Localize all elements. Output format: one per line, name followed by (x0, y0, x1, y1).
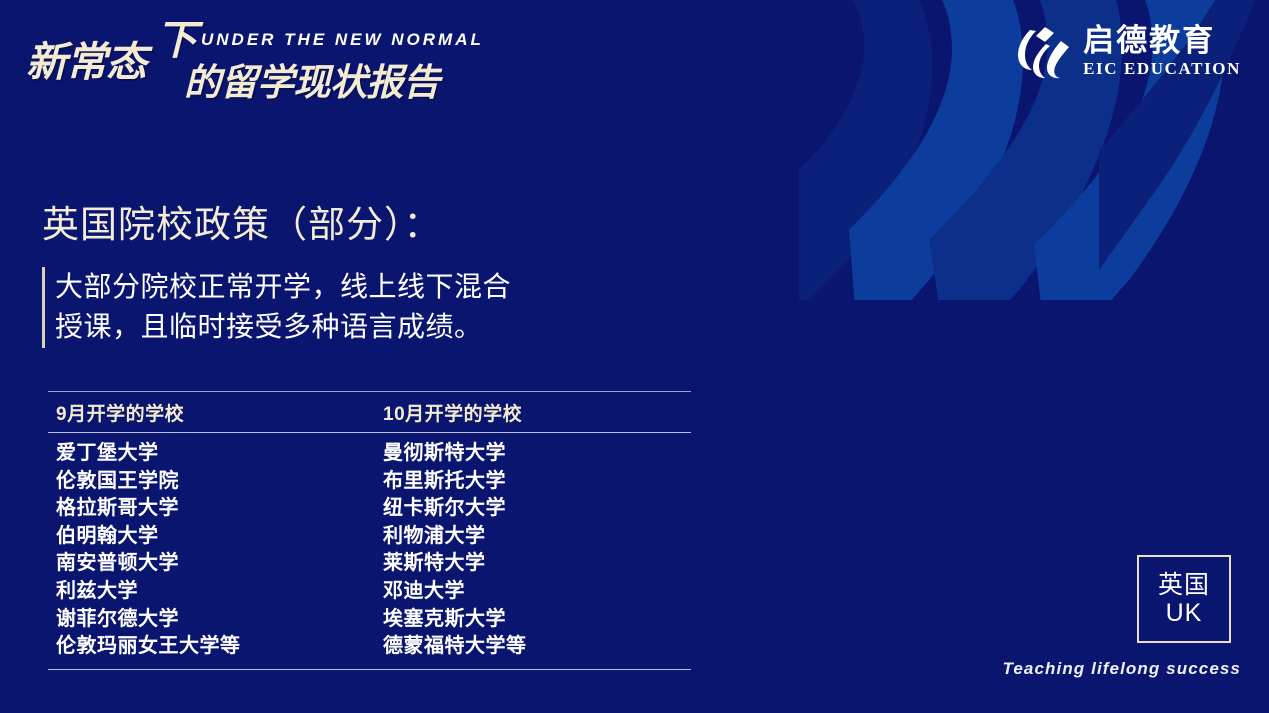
table-cell-sep-8: 伦敦玛丽女王大学等 (56, 633, 383, 661)
table-cell-oct-6: 邓迪大学 (383, 578, 691, 606)
table-header-row: 9月开学的学校 10月开学的学校 (48, 392, 691, 432)
table-row: 南安普顿大学 莱斯特大学 (56, 550, 691, 578)
table-row: 伯明翰大学 利物浦大学 (56, 523, 691, 551)
accent-bar (42, 267, 45, 348)
table-cell-sep-6: 利兹大学 (56, 578, 383, 606)
table-cell-sep-7: 谢菲尔德大学 (56, 606, 383, 634)
report-title-cn-line1: 新常态 (26, 42, 146, 83)
table-row: 爱丁堡大学 曼彻斯特大学 (56, 440, 691, 468)
country-badge: 英国 UK (1137, 555, 1231, 643)
table-cell-sep-1: 爱丁堡大学 (56, 440, 383, 468)
slide-root: 新常态 下 UNDER THE NEW NORMAL 的留学现状报告 启德教育 … (0, 0, 1269, 713)
table-cell-sep-5: 南安普顿大学 (56, 550, 383, 578)
table-header-cell-1: 9月开学的学校 (56, 399, 383, 426)
table-cell-oct-5: 莱斯特大学 (383, 550, 691, 578)
brand-text: 启德教育 EIC EDUCATION (1083, 25, 1241, 80)
table-row: 谢菲尔德大学 埃塞克斯大学 (56, 606, 691, 634)
brand-tagline: Teaching lifelong success (1003, 659, 1242, 679)
table-row: 格拉斯哥大学 纽卡斯尔大学 (56, 495, 691, 523)
page-title: 英国院校政策（部分）： (42, 194, 442, 248)
table-cell-sep-2: 伦敦国王学院 (56, 468, 383, 496)
lead-paragraph: 大部分院校正常开学，线上线下混合 授课，且临时接受多种语言成绩。 (42, 267, 511, 348)
brand-name-cn: 启德教育 (1083, 25, 1215, 58)
report-title-en: UNDER THE NEW NORMAL (201, 30, 484, 50)
lead-paragraph-text: 大部分院校正常开学，线上线下混合 授课，且临时接受多种语言成绩。 (55, 267, 511, 348)
table-cell-oct-1: 曼彻斯特大学 (383, 440, 691, 468)
report-title-cn-line2: 的留学现状报告 (184, 64, 440, 101)
table-body: 爱丁堡大学 曼彻斯特大学 伦敦国王学院 布里斯托大学 格拉斯哥大学 纽卡斯尔大学… (48, 433, 691, 669)
report-title-cn-raised: 下 (156, 20, 197, 61)
eic-logo-mark-icon (1016, 24, 1070, 80)
table-cell-oct-4: 利物浦大学 (383, 523, 691, 551)
table-rule-bottom (48, 669, 691, 670)
table-row: 伦敦玛丽女王大学等 德蒙福特大学等 (56, 633, 691, 661)
schools-table: 9月开学的学校 10月开学的学校 爱丁堡大学 曼彻斯特大学 伦敦国王学院 布里斯… (48, 391, 691, 670)
table-row: 利兹大学 邓迪大学 (56, 578, 691, 606)
table-cell-oct-2: 布里斯托大学 (383, 468, 691, 496)
table-cell-sep-4: 伯明翰大学 (56, 523, 383, 551)
brand-name-en: EIC EDUCATION (1083, 59, 1241, 79)
table-cell-sep-3: 格拉斯哥大学 (56, 495, 383, 523)
country-badge-cn: 英国 (1158, 571, 1210, 599)
report-title: 新常态 下 UNDER THE NEW NORMAL 的留学现状报告 (26, 18, 496, 98)
brand-logo: 启德教育 EIC EDUCATION (1016, 24, 1241, 80)
table-header-cell-2: 10月开学的学校 (383, 399, 691, 426)
country-badge-en: UK (1166, 599, 1203, 627)
table-cell-oct-7: 埃塞克斯大学 (383, 606, 691, 634)
table-row: 伦敦国王学院 布里斯托大学 (56, 468, 691, 496)
table-cell-oct-8: 德蒙福特大学等 (383, 633, 691, 661)
table-cell-oct-3: 纽卡斯尔大学 (383, 495, 691, 523)
